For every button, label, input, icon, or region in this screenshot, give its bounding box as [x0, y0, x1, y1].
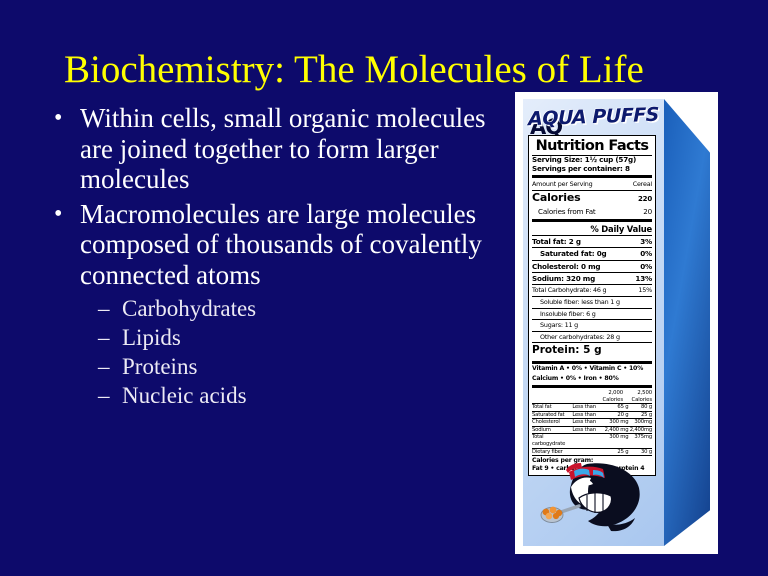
footnote-value-2500: 25 g: [628, 412, 652, 419]
bullet-item: • Macromolecules are large molecules com…: [54, 199, 504, 291]
daily-value-header: % Daily Value: [532, 223, 652, 235]
bullet-marker-icon: •: [54, 199, 80, 230]
footnote-value-2500: 375mg: [628, 434, 652, 447]
slide-body-content: • Within cells, small organic molecules …: [54, 103, 504, 410]
footnote-qualifier: Less than: [572, 404, 600, 411]
footnote-row: Sodium Less than 2,400 mg 2,400mg: [532, 426, 652, 434]
calories-from-fat-label: Calories from Fat: [532, 207, 596, 216]
nutrient-label: Sodium: 320 mg: [532, 274, 595, 283]
dash-marker-icon: –: [98, 381, 122, 410]
footnote-value-2500: 300mg: [628, 419, 652, 426]
bullet-item: • Within cells, small organic molecules …: [54, 103, 504, 195]
cereal-box-image: AQUA PUFFS AQUA PUFFS Nutrition Facts Se…: [515, 92, 718, 554]
footnote-value-2000: 300 mg: [600, 419, 629, 426]
nutrient-label: Total Carbohydrate: 46 g: [532, 286, 606, 295]
calories-row: Calories 220: [532, 191, 652, 206]
footnote-qualifier: Less than: [572, 427, 600, 434]
sub-bullet-text: Proteins: [122, 352, 197, 381]
cereal-box-side-panel: [664, 99, 710, 546]
footnote-nutrient: Sodium: [532, 427, 572, 434]
footnote-value-2000: 20 g: [600, 412, 629, 419]
nutrition-facts-title: Nutrition Facts: [532, 138, 652, 154]
footnote-value-2500: 80 g: [628, 404, 652, 411]
footnote-row: Total fat Less than 65 g 80 g: [532, 403, 652, 411]
footnote-value-2000: 2,400 mg: [600, 427, 629, 434]
footnote-nutrient: Saturated fat: [532, 412, 572, 419]
nutrient-dv: 3%: [640, 237, 652, 246]
nutrient-row: Sodium: 320 mg 13%: [532, 273, 652, 284]
protein-row: Protein: 5 g: [532, 343, 652, 359]
orca-mascot-icon: [535, 454, 651, 532]
brand-wordmark: AQUA PUFFS: [527, 105, 660, 130]
dash-marker-icon: –: [98, 294, 122, 323]
nutrition-facts-label: Nutrition Facts Serving Size: 1½ cup (57…: [528, 135, 656, 476]
nutrient-row: Total fat: 2 g 3%: [532, 236, 652, 247]
footnote-row: Total carbogydrate 300 mg 375mg: [532, 433, 652, 447]
cereal-box-graphic: AQUA PUFFS AQUA PUFFS Nutrition Facts Se…: [523, 99, 710, 546]
amount-per-serving-column: Cereal: [633, 180, 652, 189]
nutrient-row: Sugars: 11 g: [532, 320, 652, 331]
sub-bullet-text: Carbohydrates: [122, 294, 256, 323]
calories-value: 220: [638, 193, 652, 205]
nutrient-label: Sugars: 11 g: [532, 321, 578, 330]
footnote-col-b-unit: Calories: [623, 397, 652, 403]
nutrient-row: Saturated fat: 0g 0%: [532, 248, 652, 259]
sub-bullet-item: – Lipids: [98, 323, 504, 352]
nutrient-label: Total fat: 2 g: [532, 237, 581, 246]
nutrient-dv: 15%: [638, 286, 652, 295]
nutrient-row: Total Carbohydrate: 46 g 15%: [532, 285, 652, 296]
footnote-qualifier: Less than: [572, 419, 600, 426]
nutrient-label: Insoluble fiber: 6 g: [532, 310, 596, 319]
footnote-row: Saturated fat Less than 20 g 25 g: [532, 411, 652, 419]
sub-bullet-item: – Carbohydrates: [98, 294, 504, 323]
nutrient-row: Cholesterol: 0 mg 0%: [532, 261, 652, 272]
vitamin-line-1: Vitamin A • 0% • Vitamin C • 10%: [532, 365, 652, 374]
amount-per-serving-header: Amount per Serving Cereal: [532, 179, 652, 190]
nutrient-row: Insoluble fiber: 6 g: [532, 309, 652, 320]
nutrient-label: Soluble fiber: less than 1 g: [532, 298, 620, 307]
footnote-qualifier: [572, 434, 600, 447]
sub-bullet-text: Nucleic acids: [122, 381, 247, 410]
bullet-marker-icon: •: [54, 103, 80, 134]
footnote-value-2500: 2,400mg: [628, 427, 652, 434]
page-title: Biochemistry: The Molecules of Life: [64, 48, 724, 92]
footnote-col-a-unit: Calories: [594, 397, 623, 403]
bullet-text: Macromolecules are large molecules compo…: [80, 199, 504, 291]
nutrient-label: Cholesterol: 0 mg: [532, 262, 600, 271]
presentation-slide: Biochemistry: The Molecules of Life • Wi…: [0, 0, 768, 576]
sub-bullet-text: Lipids: [122, 323, 181, 352]
calories-from-fat-row: Calories from Fat 20: [532, 206, 652, 217]
footnote-nutrient: Total fat: [532, 404, 572, 411]
footnote-value-2000: 65 g: [600, 404, 629, 411]
calories-from-fat-value: 20: [643, 207, 652, 216]
nutrient-dv: 0%: [640, 262, 652, 271]
footnote-row: Cholesterol Less than 300 mg 300mg: [532, 418, 652, 426]
nutrient-dv: 13%: [635, 274, 652, 283]
sub-bullet-list: – Carbohydrates – Lipids – Proteins – Nu…: [54, 294, 504, 410]
footnote-nutrient: Total carbogydrate: [532, 434, 572, 447]
dash-marker-icon: –: [98, 323, 122, 352]
footnote-value-2000: 300 mg: [600, 434, 629, 447]
dash-marker-icon: –: [98, 352, 122, 381]
sub-bullet-item: – Nucleic acids: [98, 381, 504, 410]
nutrient-label: Other carbohydrates: 28 g: [532, 333, 620, 342]
servings-per-container-text: Servings per container: 8: [532, 165, 652, 174]
nutrient-dv: 0%: [640, 249, 652, 258]
calories-label: Calories: [532, 192, 580, 204]
footnote-nutrient: Cholesterol: [532, 419, 572, 426]
footnote-qualifier: Less than: [572, 412, 600, 419]
amount-per-serving-label: Amount per Serving: [532, 180, 592, 189]
nutrient-row: Soluble fiber: less than 1 g: [532, 297, 652, 308]
bullet-text: Within cells, small organic molecules ar…: [80, 103, 504, 195]
nutrient-label: Saturated fat: 0g: [532, 249, 606, 258]
sub-bullet-item: – Proteins: [98, 352, 504, 381]
nutrient-row: Other carbohydrates: 28 g: [532, 332, 652, 343]
vitamin-line-2: Calcium • 0% • Iron • 80%: [532, 374, 652, 383]
